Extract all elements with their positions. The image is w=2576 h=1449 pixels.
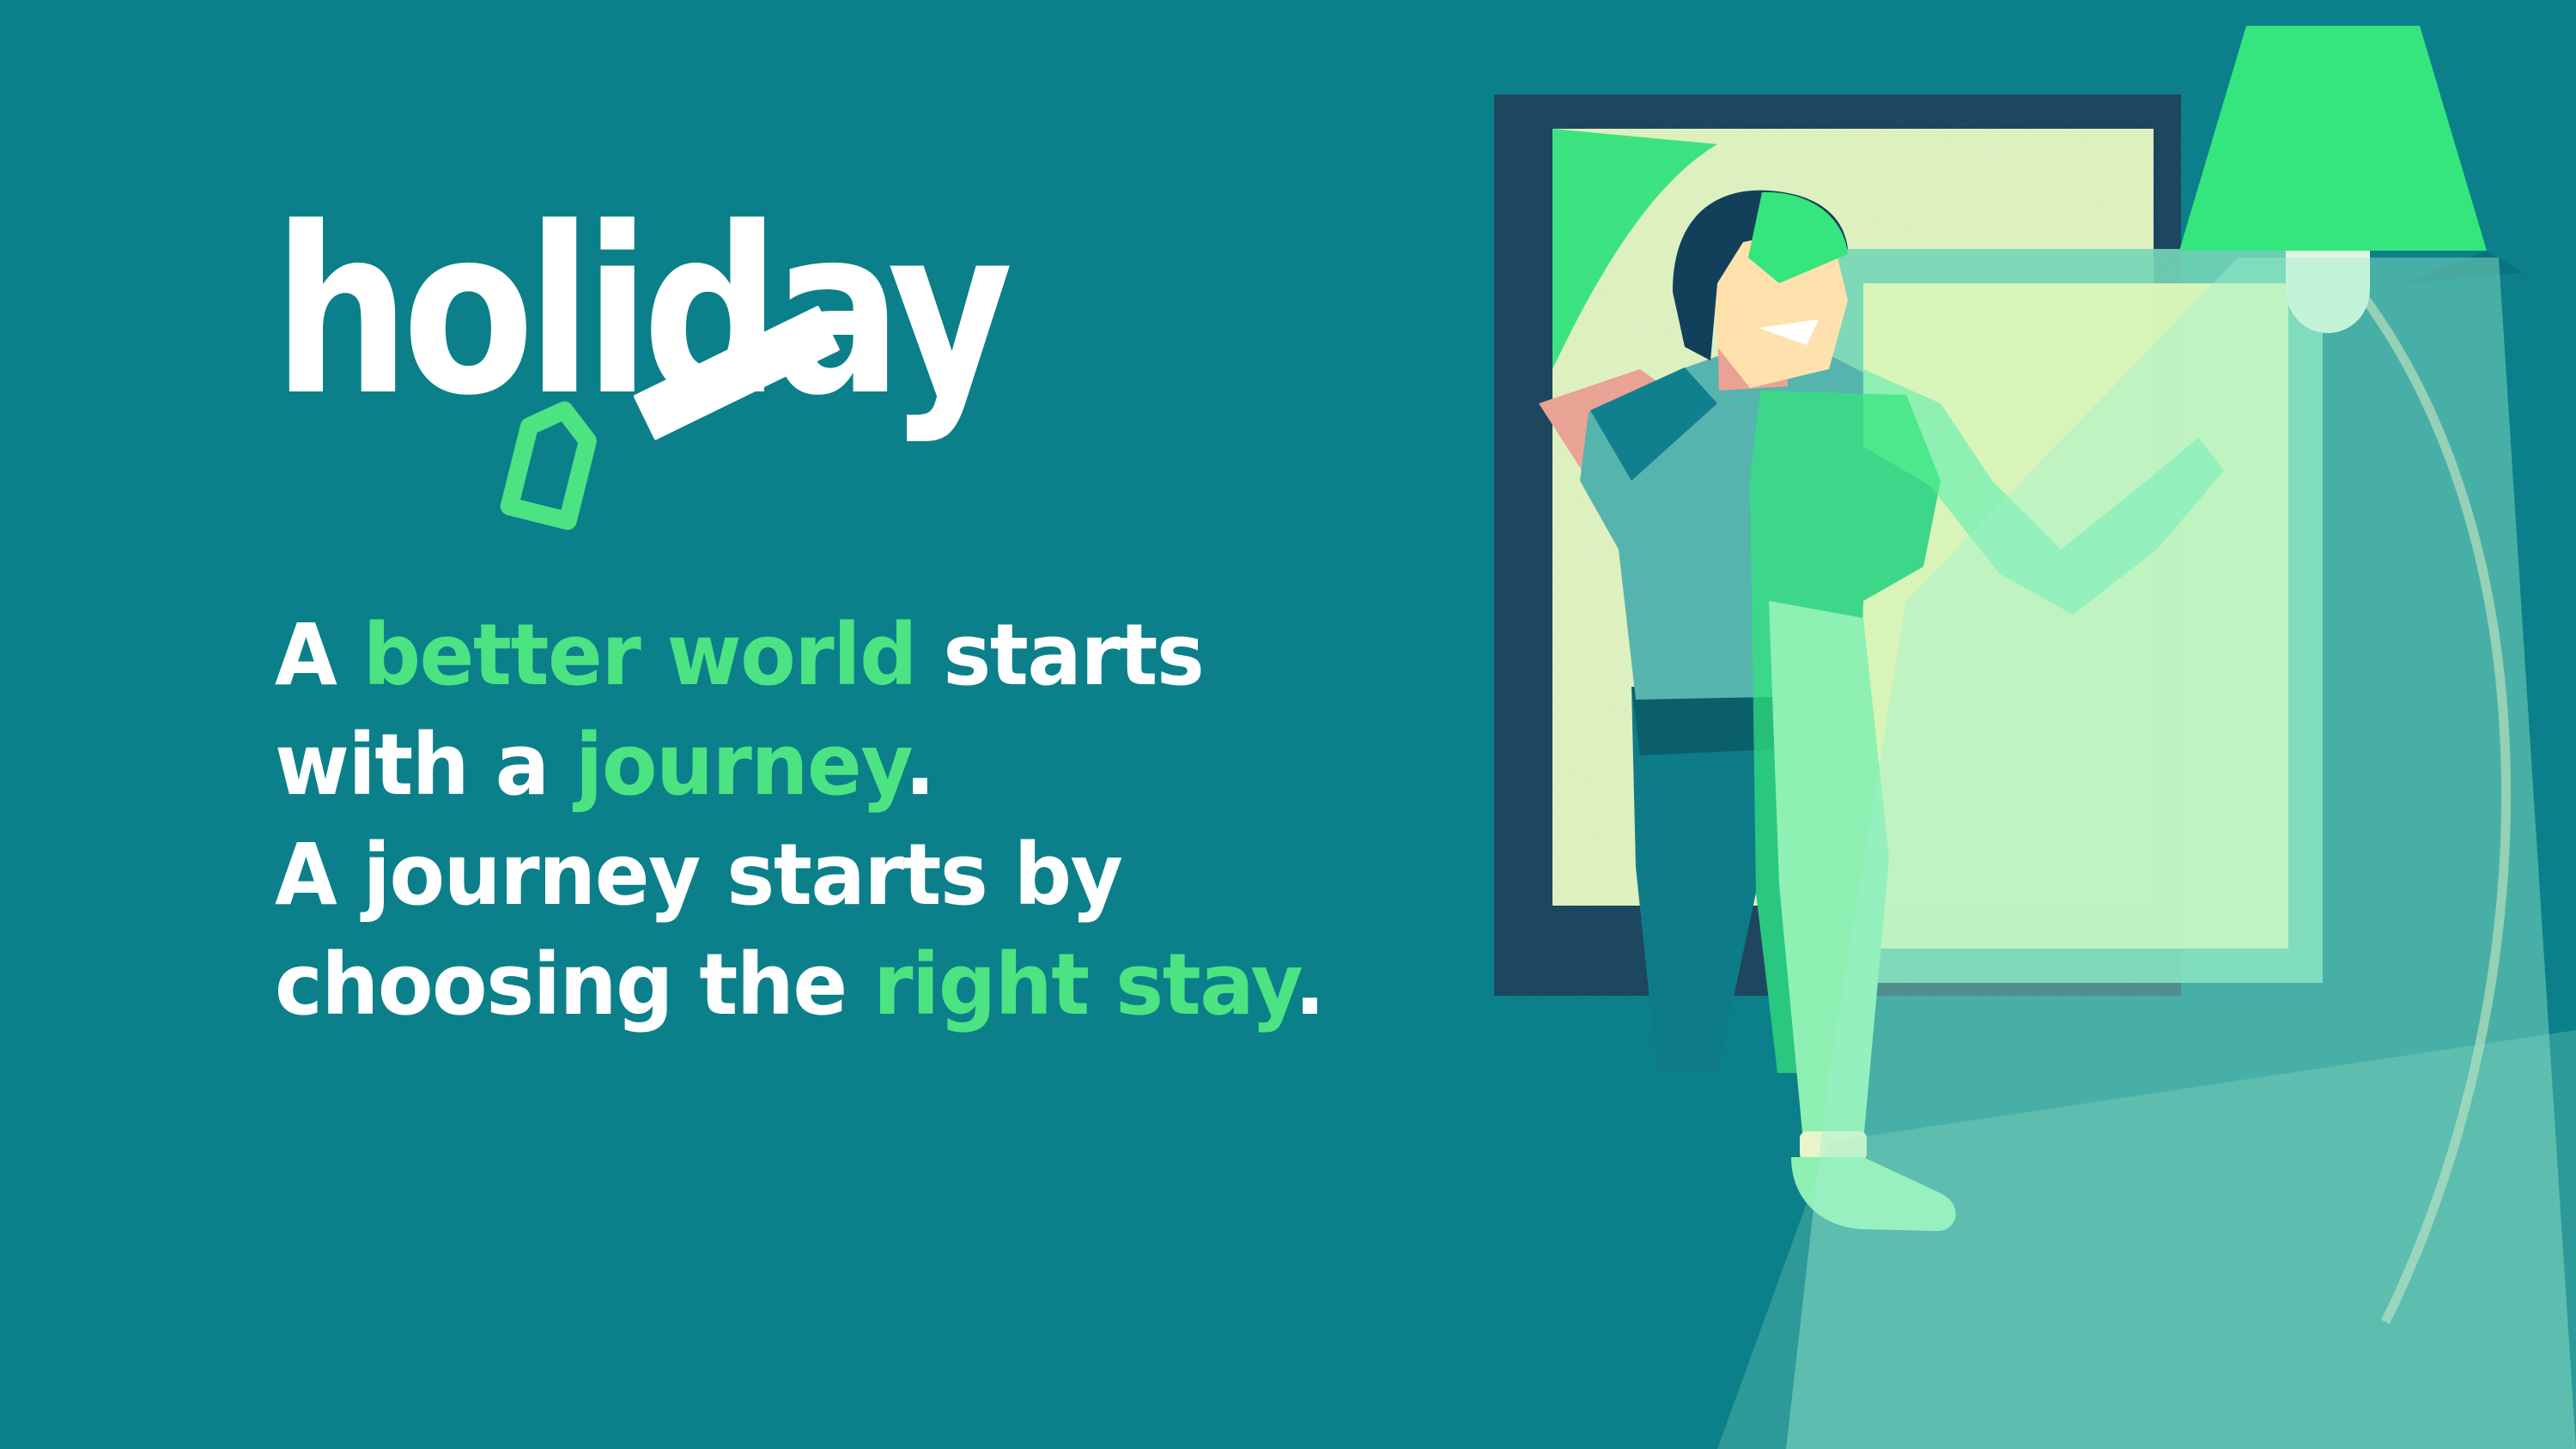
tagline-l3-seg-1: A journey starts by (275, 826, 1122, 925)
promo-banner: holiday A better world starts with a jou… (0, 0, 2576, 1449)
tagline-line-2: with a journey. (275, 711, 1433, 821)
tagline-l1-seg-3: starts (916, 606, 1204, 705)
tagline-l2-seg-3: . (905, 716, 934, 815)
tagline-line-1: A better world starts (275, 601, 1433, 711)
brand-logo[interactable]: holiday (273, 197, 1218, 489)
price-tag-icon (486, 402, 615, 530)
tagline-l1-seg-2: better world (363, 606, 916, 705)
tagline-line-4: choosing the right stay. (275, 931, 1433, 1040)
tagline-l4-seg-3: . (1295, 936, 1324, 1034)
copy-block: holiday A better world starts with a jou… (273, 197, 1518, 489)
tagline-l2-seg-2: journey (575, 716, 905, 815)
tagline-l4-seg-2: right stay (873, 936, 1295, 1034)
tagline: A better world starts with a journey. A … (275, 601, 1433, 1040)
tagline-l2-seg-1: with a (275, 716, 575, 815)
tagline-line-3: A journey starts by (275, 821, 1433, 931)
tagline-l1-seg-1: A (275, 606, 363, 705)
hero-illustration (1460, 0, 2576, 1449)
tagline-l4-seg-1: choosing the (275, 936, 873, 1034)
